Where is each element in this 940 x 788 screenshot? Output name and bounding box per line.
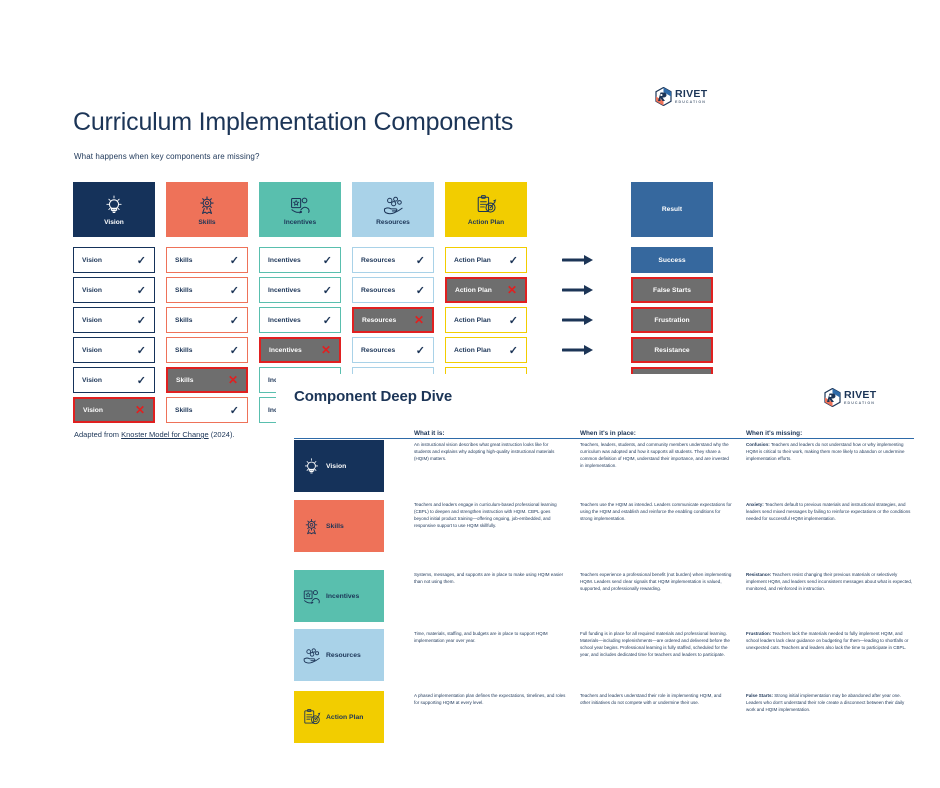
cell-when-missing: Frustration: Teachers lack the materials…	[746, 629, 914, 652]
deep-dive-row-incentives: Incentives Systems, messages, and suppor…	[294, 570, 914, 622]
attribution-prefix: Adapted from	[74, 430, 121, 439]
row-badge-action-plan[interactable]: Action Plan	[294, 691, 384, 743]
check-icon: ✓	[323, 284, 332, 297]
row-badge-label: Resources	[326, 652, 361, 659]
logo-name: RIVET	[844, 390, 876, 401]
check-icon: ✓	[230, 254, 239, 267]
matrix-cell-skills-row6[interactable]: Skills ✓	[166, 397, 248, 423]
check-icon: ✓	[230, 284, 239, 297]
hand-coins-icon	[302, 646, 321, 665]
missing-body: Teachers default to previous materials a…	[746, 502, 910, 521]
cell-label: Action Plan	[454, 347, 491, 354]
matrix-cell-skills-row5[interactable]: Skills ✕	[166, 367, 248, 393]
cell-label: Incentives	[269, 347, 302, 354]
logo-subtitle: EDUCATION	[675, 101, 707, 105]
gear-ribbon-icon	[302, 517, 321, 536]
result-label: Success	[658, 257, 685, 264]
result-cell-row4[interactable]: Resistance	[631, 337, 713, 363]
cell-when-in-place: Teachers experience a professional benef…	[580, 570, 732, 593]
row-badge-container: Resources	[294, 629, 414, 681]
column-header-result: Result	[631, 182, 713, 237]
column-header-incentives[interactable]: Incentives	[259, 182, 341, 237]
cell-label: Resources	[361, 257, 395, 264]
cell-label: Skills	[176, 377, 193, 384]
deep-dive-row-resources: Resources Time, materials, staffing, and…	[294, 629, 914, 681]
rivet-hex-icon	[824, 388, 841, 407]
cell-when-in-place: Teachers, leaders, students, and communi…	[580, 440, 732, 470]
column-header-label: Vision	[104, 219, 124, 226]
column-header-what-it-is: What it is:	[414, 430, 445, 437]
row-badge-label: Action Plan	[326, 714, 363, 721]
deep-dive-row-vision: Vision An instructional vision describes…	[294, 440, 914, 492]
lightbulb-icon	[302, 457, 321, 476]
x-icon: ✕	[507, 284, 517, 296]
matrix-cell-vision-row6[interactable]: Vision ✕	[73, 397, 155, 423]
matrix-cell-action-plan-row4[interactable]: Action Plan ✓	[445, 337, 527, 363]
matrix-cell-incentives-row3[interactable]: Incentives ✓	[259, 307, 341, 333]
cell-what-it-is: A phased implementation plan defines the…	[414, 691, 566, 707]
missing-body: Teachers lack the materials needed to fu…	[746, 631, 908, 650]
column-header-when-in-place: When it's in place:	[580, 430, 636, 437]
hand-coins-icon	[382, 194, 404, 216]
deep-dive-title: Component Deep Dive	[294, 388, 452, 405]
row-badge-label: Skills	[326, 523, 344, 530]
column-header-when-missing: When it's missing:	[746, 430, 802, 437]
x-icon: ✕	[414, 314, 424, 326]
result-cell-row3[interactable]: Frustration	[631, 307, 713, 333]
matrix-header-row: Vision Skills Incentives	[73, 182, 724, 247]
attribution-suffix: (2024).	[209, 430, 235, 439]
check-icon: ✓	[416, 344, 425, 357]
rivet-logo: RIVET EDUCATION	[655, 87, 707, 106]
table-row: Vision ✓ Skills ✓ Incentives ✓ Resources	[73, 277, 724, 303]
matrix-cell-resources-row2[interactable]: Resources ✓	[352, 277, 434, 303]
cell-label: Incentives	[268, 257, 301, 264]
result-cell-row2[interactable]: False Starts	[631, 277, 713, 303]
cell-label: Action Plan	[454, 257, 491, 264]
matrix-cell-resources-row4[interactable]: Resources ✓	[352, 337, 434, 363]
matrix-cell-resources-row3[interactable]: Resources ✕	[352, 307, 434, 333]
table-row: Vision ✓ Skills ✓ Incentives ✓ Resources	[73, 307, 724, 333]
missing-lead: Frustration:	[746, 631, 771, 636]
matrix-cell-skills-row4[interactable]: Skills ✓	[166, 337, 248, 363]
column-header-vision[interactable]: Vision	[73, 182, 155, 237]
arrow-icon	[538, 277, 620, 303]
row-badge-skills[interactable]: Skills	[294, 500, 384, 552]
matrix-cell-vision-row5[interactable]: Vision ✓	[73, 367, 155, 393]
cell-label: Skills	[175, 257, 192, 264]
clipboard-target-icon	[475, 194, 497, 216]
cell-when-missing: Confusion: Teachers and leaders do not u…	[746, 440, 914, 463]
cell-label: Skills	[175, 407, 192, 414]
column-header-resources[interactable]: Resources	[352, 182, 434, 237]
column-header-label: Result	[662, 206, 682, 213]
check-icon: ✓	[137, 314, 146, 327]
matrix-cell-vision-row3[interactable]: Vision ✓	[73, 307, 155, 333]
attribution: Adapted from Knoster Model for Change (2…	[74, 430, 235, 439]
x-icon: ✕	[321, 344, 331, 356]
x-icon: ✕	[135, 404, 145, 416]
result-label: Frustration	[654, 317, 689, 324]
row-badge-vision[interactable]: Vision	[294, 440, 384, 492]
table-row: Vision ✓ Skills ✓ Incentives ✕ Resources	[73, 337, 724, 363]
cell-label: Resources	[362, 317, 396, 324]
cell-label: Vision	[82, 287, 102, 294]
cell-label: Incentives	[268, 317, 301, 324]
cell-when-in-place: Teachers and leaders understand their ro…	[580, 691, 732, 707]
row-badge-incentives[interactable]: Incentives	[294, 570, 384, 622]
row-badge-container: Incentives	[294, 570, 414, 622]
matrix-cell-vision-row4[interactable]: Vision ✓	[73, 337, 155, 363]
cell-when-missing: Resistance: Teachers resist changing the…	[746, 570, 914, 593]
lightbulb-icon	[103, 194, 125, 216]
matrix-cell-incentives-row4[interactable]: Incentives ✕	[259, 337, 341, 363]
cell-label: Action Plan	[455, 287, 492, 294]
missing-lead: False Starts:	[746, 693, 773, 698]
x-icon: ✕	[228, 374, 238, 386]
row-badge-label: Vision	[326, 463, 346, 470]
check-icon: ✓	[416, 254, 425, 267]
rivet-logo-secondary: RIVET EDUCATION	[824, 388, 876, 407]
deep-dive-row-skills: Skills Teachers and leaders engage in cu…	[294, 500, 914, 552]
page-title: Curriculum Implementation Components	[73, 108, 513, 137]
check-icon: ✓	[416, 284, 425, 297]
cell-when-missing: False Starts: Strong initial implementat…	[746, 691, 914, 714]
matrix-cell-action-plan-row1[interactable]: Action Plan ✓	[445, 247, 527, 273]
slide-component-deep-dive: RIVET EDUCATION Component Deep Dive What…	[276, 374, 940, 788]
missing-lead: Resistance:	[746, 572, 771, 577]
row-badge-resources[interactable]: Resources	[294, 629, 384, 681]
logo-subtitle: EDUCATION	[844, 402, 876, 406]
check-icon: ✓	[323, 314, 332, 327]
column-header-action-plan[interactable]: Action Plan	[445, 182, 527, 237]
arrow-icon	[538, 337, 620, 363]
gear-ribbon-icon	[196, 194, 218, 216]
matrix-cell-action-plan-row3[interactable]: Action Plan ✓	[445, 307, 527, 333]
check-icon: ✓	[230, 314, 239, 327]
column-header-label: Action Plan	[468, 219, 504, 226]
cell-label: Action Plan	[454, 317, 491, 324]
check-icon: ✓	[323, 254, 332, 267]
cell-label: Resources	[361, 287, 395, 294]
column-header-skills[interactable]: Skills	[166, 182, 248, 237]
cell-when-in-place: Teachers use the HQIM as intended. Leade…	[580, 500, 732, 523]
matrix-cell-incentives-row2[interactable]: Incentives ✓	[259, 277, 341, 303]
cell-label: Vision	[82, 317, 102, 324]
check-icon: ✓	[509, 314, 518, 327]
spacer	[538, 182, 620, 247]
cell-label: Resources	[361, 347, 395, 354]
cell-label: Skills	[175, 317, 192, 324]
cell-what-it-is: Time, materials, staffing, and budgets a…	[414, 629, 566, 645]
page-subtitle: What happens when key components are mis…	[74, 152, 260, 161]
check-icon: ✓	[137, 254, 146, 267]
matrix-cell-vision-row2[interactable]: Vision ✓	[73, 277, 155, 303]
reward-icon	[302, 587, 321, 606]
cell-what-it-is: An instructional vision describes what g…	[414, 440, 566, 463]
matrix-cell-vision-row1[interactable]: Vision ✓	[73, 247, 155, 273]
result-label: False Starts	[653, 287, 691, 294]
cell-label: Vision	[82, 257, 102, 264]
matrix-cell-incentives-row1[interactable]: Incentives ✓	[259, 247, 341, 273]
matrix-cell-skills-row1[interactable]: Skills ✓	[166, 247, 248, 273]
cell-when-in-place: Full funding is in place for all require…	[580, 629, 732, 659]
row-badge-container: Vision	[294, 440, 414, 492]
cell-label: Skills	[175, 287, 192, 294]
matrix-cell-skills-row3[interactable]: Skills ✓	[166, 307, 248, 333]
attribution-link[interactable]: Knoster Model for Change	[121, 430, 209, 439]
matrix-cell-resources-row1[interactable]: Resources ✓	[352, 247, 434, 273]
missing-lead: Anxiety:	[746, 502, 764, 507]
check-icon: ✓	[509, 254, 518, 267]
column-header-label: Incentives	[284, 219, 316, 226]
cell-what-it-is: Teachers and leaders engage in curriculu…	[414, 500, 566, 530]
row-badge-label: Incentives	[326, 593, 359, 600]
check-icon: ✓	[509, 344, 518, 357]
arrow-icon	[538, 247, 620, 273]
column-header-label: Resources	[376, 219, 410, 226]
missing-body: Teachers resist changing their previous …	[746, 572, 912, 591]
cell-when-missing: Anxiety: Teachers default to previous ma…	[746, 500, 914, 523]
matrix-cell-action-plan-row2[interactable]: Action Plan ✕	[445, 277, 527, 303]
matrix-cell-skills-row2[interactable]: Skills ✓	[166, 277, 248, 303]
cell-label: Vision	[82, 347, 102, 354]
cell-label: Incentives	[268, 287, 301, 294]
result-label: Resistance	[654, 347, 689, 354]
arrow-icon	[538, 307, 620, 333]
check-icon: ✓	[137, 344, 146, 357]
cell-what-it-is: Systems, messages, and supports are in p…	[414, 570, 566, 586]
row-badge-container: Skills	[294, 500, 414, 552]
missing-body: Teachers and leaders do not understand h…	[746, 442, 905, 461]
cell-label: Vision	[82, 377, 102, 384]
column-header-label: Skills	[198, 219, 215, 226]
check-icon: ✓	[137, 284, 146, 297]
cell-label: Skills	[175, 347, 192, 354]
table-row: Vision ✓ Skills ✓ Incentives ✓ Resources	[73, 247, 724, 273]
cell-label: Vision	[83, 407, 103, 414]
rivet-hex-icon	[655, 87, 672, 106]
check-icon: ✓	[230, 404, 239, 417]
logo-name: RIVET	[675, 89, 707, 100]
reward-icon	[289, 194, 311, 216]
missing-lead: Confusion:	[746, 442, 770, 447]
deep-dive-row-action-plan: Action Plan A phased implementation plan…	[294, 691, 914, 743]
result-cell-row1[interactable]: Success	[631, 247, 713, 273]
clipboard-target-icon	[302, 708, 321, 727]
row-badge-container: Action Plan	[294, 691, 414, 743]
check-icon: ✓	[230, 344, 239, 357]
check-icon: ✓	[137, 374, 146, 387]
